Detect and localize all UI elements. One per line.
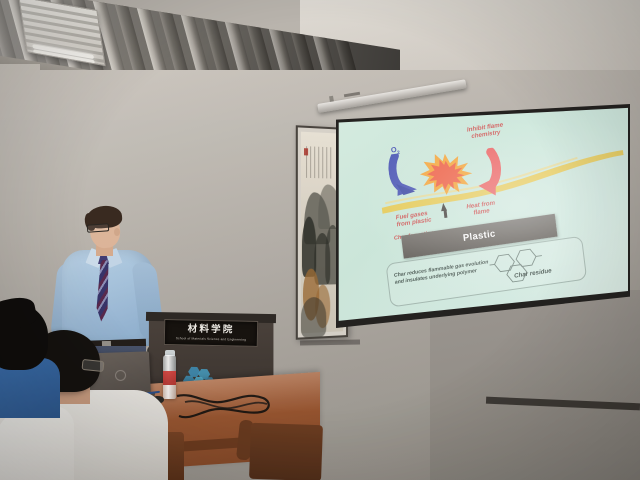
oxygen-arrow-icon	[387, 150, 432, 199]
presenter-ear	[114, 228, 120, 236]
plastic-bar-label: Plastic	[462, 228, 496, 244]
aromatic-rings-icon	[486, 246, 546, 288]
wall-trim-rail-left	[300, 339, 360, 345]
lecture-hall-photo: Char residue impedes evolution of flamma…	[0, 0, 640, 480]
department-sign: 材料学院 School of Materials Science and Eng…	[164, 319, 259, 347]
inhibit-flame-label: Inhibit flame chemistry	[467, 121, 505, 141]
upward-arrow-stem	[443, 210, 446, 218]
right-wall-lower	[430, 290, 640, 480]
department-sign-english: School of Materials Science and Engineer…	[176, 336, 247, 341]
presenter-glasses	[87, 223, 110, 233]
seated-attendee-blue-shirt	[0, 300, 64, 410]
department-sign-chinese: 材料学院	[188, 325, 235, 336]
tangled-cables	[175, 390, 275, 424]
heat-from-flame-label: Heat from flame	[466, 199, 496, 218]
presentation-slide: Char residue impedes evolution of flamma…	[334, 107, 628, 323]
projection-screen-surface: Char residue impedes evolution of flamma…	[334, 107, 628, 323]
attendee-glasses	[81, 359, 104, 372]
chair-right	[249, 423, 323, 480]
heat-arrow-icon	[457, 147, 506, 203]
char-residue-description: Char reduces flammable gas evolution and…	[394, 259, 495, 287]
